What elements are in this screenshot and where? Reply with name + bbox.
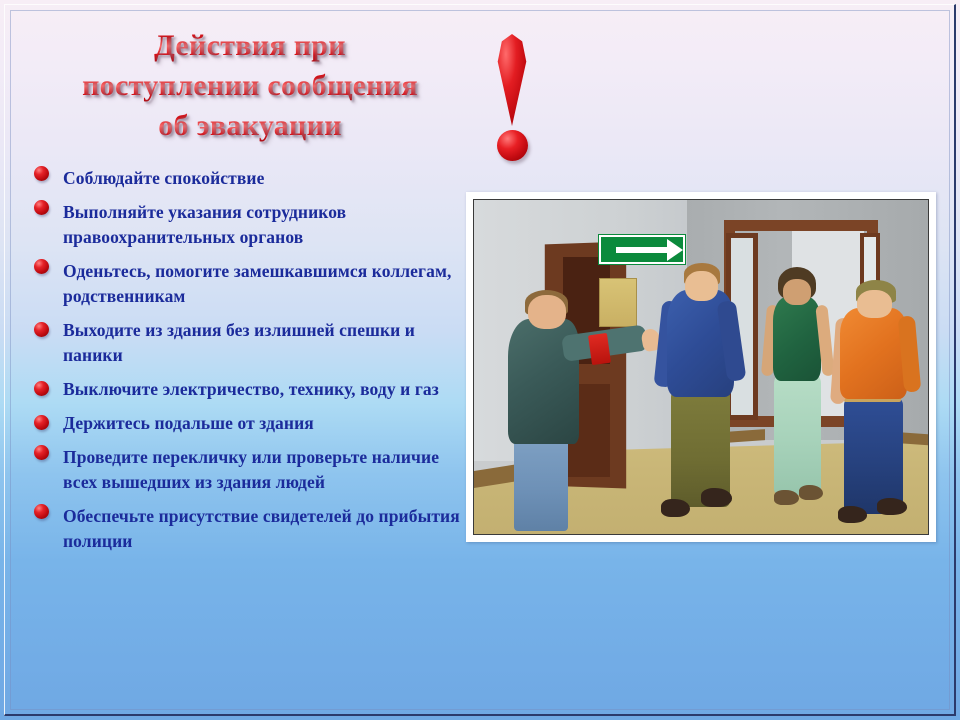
list-item: Выходите из здания без излишней спешки и… (34, 318, 474, 368)
exclamation-stem (495, 34, 529, 126)
man-orange-torso (840, 308, 907, 399)
bullet-dot-icon (34, 381, 49, 396)
list-item: Проведите перекличку или проверьте налич… (34, 445, 474, 495)
exclamation-dot (497, 130, 528, 161)
title-line-3: об эвакуации (40, 106, 460, 146)
list-item-label: Оденьтесь, помогите замешкавшимся коллег… (63, 259, 474, 309)
bullet-dot-icon (34, 259, 49, 274)
woman-legs (774, 373, 821, 495)
list-item: Выполняйте указания сотрудников правоохр… (34, 200, 474, 250)
guard-head (528, 295, 566, 329)
list-item-label: Обеспечьте присутствие свидетелей до при… (63, 504, 474, 554)
list-item-label: Выполняйте указания сотрудников правоохр… (63, 200, 474, 250)
list-item-label: Выходите из здания без излишней спешки и… (63, 318, 474, 368)
list-item: Держитесь подальше от здания (34, 411, 474, 436)
woman-head (783, 279, 811, 304)
instruction-list: Соблюдайте спокойствие Выполняйте указан… (34, 166, 474, 563)
bullet-dot-icon (34, 200, 49, 215)
bullet-dot-icon (34, 504, 49, 519)
man-orange-shoe-right (877, 498, 908, 514)
title-line-2: поступлении сообщения (40, 66, 460, 106)
list-item-label: Выключите электричество, технику, воду и… (63, 377, 474, 402)
man-orange-legs (844, 397, 903, 514)
exclamation-mark-icon (489, 34, 535, 162)
list-item: Соблюдайте спокойствие (34, 166, 474, 191)
illustration-frame (466, 192, 936, 542)
exit-arrow-icon (616, 247, 669, 253)
list-item-label: Проведите перекличку или проверьте налич… (63, 445, 474, 495)
list-item: Оденьтесь, помогите замешкавшимся коллег… (34, 259, 474, 309)
woman-shoe-left (774, 490, 798, 505)
title-line-1: Действия при (40, 26, 460, 66)
person-guard (492, 290, 628, 530)
person-man-blue-shirt (656, 263, 751, 530)
list-item-label: Соблюдайте спокойствие (63, 166, 474, 191)
exit-sign-icon (599, 235, 685, 264)
person-woman-green-top (755, 267, 841, 521)
guard-legs (514, 434, 568, 530)
man-orange-head (857, 290, 891, 318)
woman-shoe-right (799, 485, 823, 500)
bullet-dot-icon (34, 322, 49, 337)
list-item: Выключите электричество, технику, воду и… (34, 377, 474, 402)
person-man-orange-shirt (833, 280, 928, 534)
man-blue-shoe-left (661, 499, 690, 518)
list-item: Обеспечьте присутствие свидетелей до при… (34, 504, 474, 554)
bullet-dot-icon (34, 415, 49, 430)
man-blue-head (685, 271, 717, 300)
list-item-label: Держитесь подальше от здания (63, 411, 474, 436)
page-title: Действия при поступлении сообщения об эв… (40, 26, 460, 146)
poster-root: Действия при поступлении сообщения об эв… (0, 0, 960, 720)
man-orange-shoe-left (838, 506, 867, 522)
bullet-dot-icon (34, 166, 49, 181)
evacuation-illustration (473, 199, 929, 535)
woman-torso (773, 297, 821, 381)
bullet-dot-icon (34, 445, 49, 460)
man-blue-shoe-right (701, 488, 732, 507)
